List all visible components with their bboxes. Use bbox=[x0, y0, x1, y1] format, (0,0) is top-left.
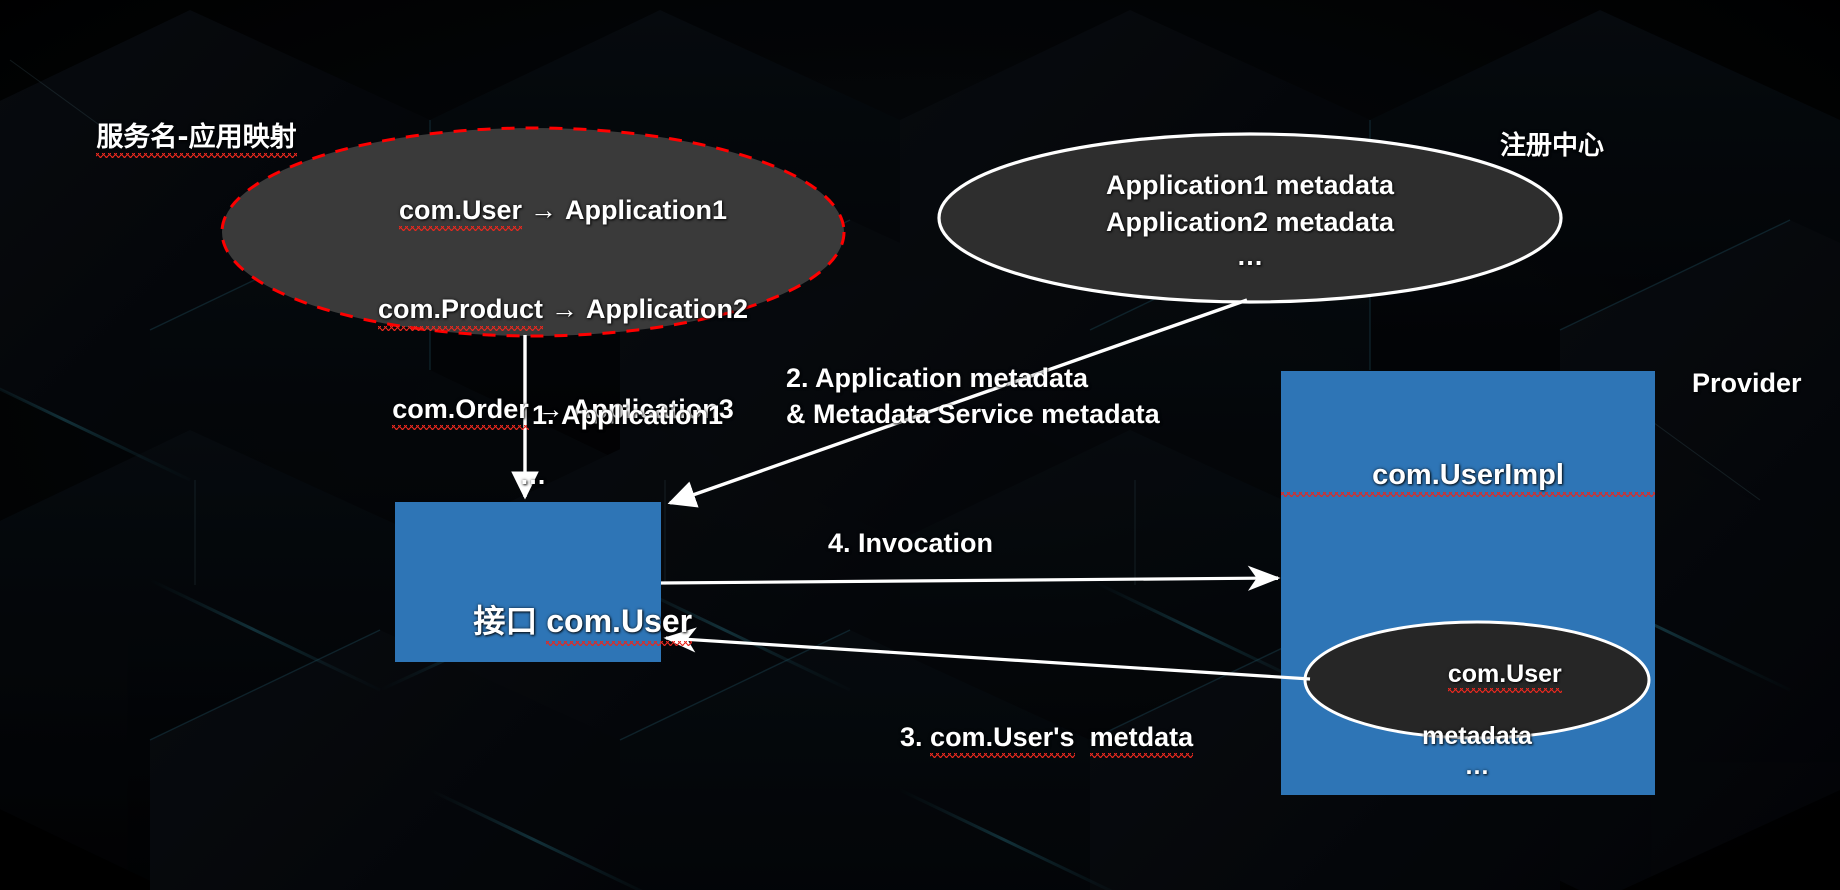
flow-4-arrow bbox=[661, 578, 1278, 583]
diagram-shapes-layer bbox=[0, 0, 1840, 890]
flow-3-arrow bbox=[666, 638, 1310, 679]
flow-2-arrow bbox=[670, 300, 1247, 503]
mapping-ellipse-shape bbox=[222, 128, 844, 336]
diagram-canvas: 服务名-应用映射 注册中心 Provider com.User→Applicat… bbox=[0, 0, 1840, 890]
provider-metadata-ellipse-shape bbox=[1305, 622, 1649, 738]
registry-ellipse-shape bbox=[939, 134, 1561, 302]
consumer-box-shape bbox=[395, 502, 661, 662]
